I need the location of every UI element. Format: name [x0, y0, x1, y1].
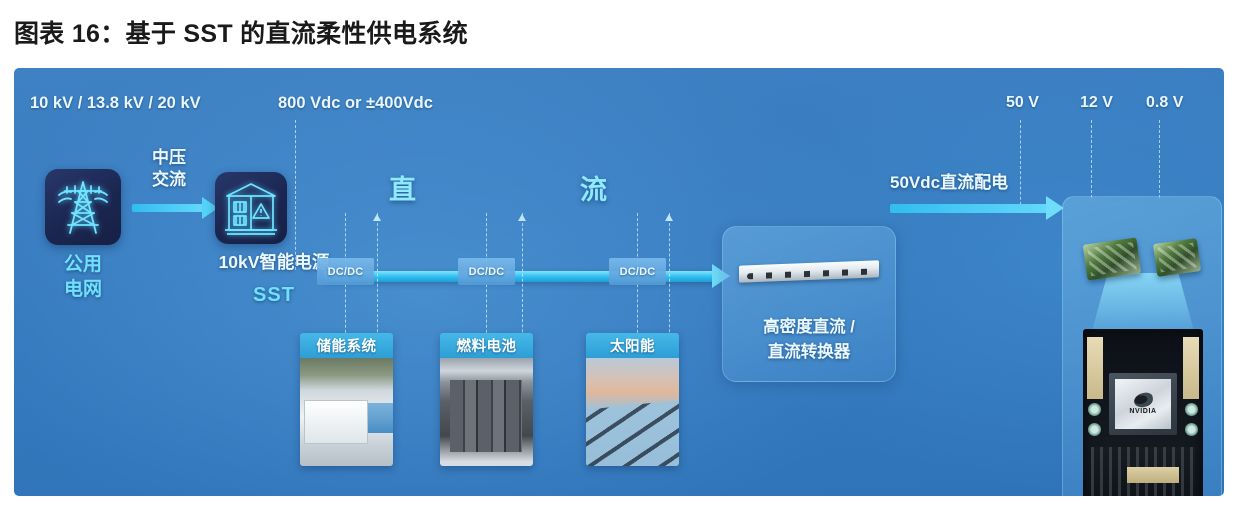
ac-arrow-body — [132, 204, 204, 212]
dcdc-converter-1[interactable]: DC/DC — [317, 258, 374, 285]
voltage-label-12v: 12 V — [1080, 94, 1113, 112]
power-beam — [1091, 273, 1195, 335]
dashed-line-dcbus — [295, 120, 296, 270]
nvidia-eye-icon — [1133, 392, 1154, 409]
gpu-panel[interactable]: NVIDIA GPU — [1062, 196, 1222, 496]
power-module-0v8 — [1153, 238, 1201, 277]
mount-pad-3 — [1185, 403, 1198, 416]
mount-pad-2 — [1088, 423, 1101, 436]
dashed-line-12v — [1091, 120, 1092, 198]
dashed-line-50v — [1020, 120, 1021, 210]
voltage-label-50v: 50 V — [1006, 94, 1039, 112]
high-density-converter-block[interactable]: 高密度直流 / 直流转换器 — [722, 226, 896, 382]
distribution-arrow-body — [890, 204, 1050, 213]
tick-up-solar — [665, 214, 673, 221]
source-card-fuelcell[interactable]: 燃料电池 — [440, 333, 533, 466]
sst-icon-tile — [215, 172, 287, 244]
dcdc-converter-3[interactable]: DC/DC — [609, 258, 666, 285]
distribution-label: 50Vdc直流配电 — [890, 171, 1065, 195]
power-module-12v — [1083, 237, 1141, 280]
figure-page: 图表 16：基于 SST 的直流柔性供电系统 10 kV / 13.8 kV /… — [0, 0, 1242, 507]
sst-sublabel: SST — [184, 283, 364, 307]
converter-label: 高密度直流 / 直流转换器 — [723, 315, 895, 365]
grid-label-line1: 公用 — [23, 253, 143, 277]
grid-icon-tile — [45, 169, 121, 245]
gpu-die: NVIDIA — [1109, 373, 1177, 435]
nvidia-wordmark: NVIDIA — [1115, 408, 1171, 415]
gpu-die-lid: NVIDIA — [1115, 379, 1171, 429]
mount-pad-1 — [1088, 403, 1101, 416]
fuel-cell-stack-photo — [440, 358, 533, 466]
ac-link-label-line1: 中压 — [124, 146, 214, 170]
tick-up-fuel — [518, 214, 526, 221]
memory-strip-left — [1087, 337, 1103, 399]
battery-container-photo — [300, 358, 393, 466]
source-card-title-fuelcell: 燃料电池 — [440, 333, 533, 358]
diagram-panel: 10 kV / 13.8 kV / 20 kV 800 Vdc or ±400V… — [14, 68, 1224, 496]
source-card-title-solar: 太阳能 — [586, 333, 679, 358]
source-card-storage[interactable]: 储能系统 — [300, 333, 393, 466]
converter-label-line1: 高密度直流 / — [723, 315, 895, 340]
voltage-label-dcbus: 800 Vdc or ±400Vdc — [278, 94, 433, 113]
mount-pad-4 — [1185, 423, 1198, 436]
memory-strip-right — [1183, 337, 1199, 399]
dcdc-converter-2[interactable]: DC/DC — [458, 258, 515, 285]
dc-bus-word-1: 直 — [389, 168, 416, 207]
dc-bus-word-2: 流 — [580, 168, 607, 207]
nvidia-logo-icon: NVIDIA — [1115, 393, 1171, 415]
gpu-board: NVIDIA — [1083, 329, 1203, 496]
voltage-label-mv: 10 kV / 13.8 kV / 20 kV — [30, 94, 201, 113]
ac-link-label-line2: 交流 — [124, 168, 214, 192]
page-title: 图表 16：基于 SST 的直流柔性供电系统 — [14, 14, 468, 50]
source-card-solar[interactable]: 太阳能 — [586, 333, 679, 466]
voltage-label-0p8v: 0.8 V — [1146, 94, 1183, 112]
board-components — [1091, 447, 1195, 496]
rack-ports — [747, 269, 869, 280]
dashed-line-0p8v — [1159, 120, 1160, 198]
converter-label-line2: 直流转换器 — [723, 340, 895, 365]
source-card-title-storage: 储能系统 — [300, 333, 393, 358]
substation-cabinet-icon — [215, 172, 287, 244]
solar-panel-photo — [586, 358, 679, 466]
transmission-tower-icon — [45, 169, 121, 245]
grid-label-line2: 电网 — [23, 278, 143, 302]
rack-converter-icon — [739, 260, 879, 282]
tick-up-storage — [373, 214, 381, 221]
